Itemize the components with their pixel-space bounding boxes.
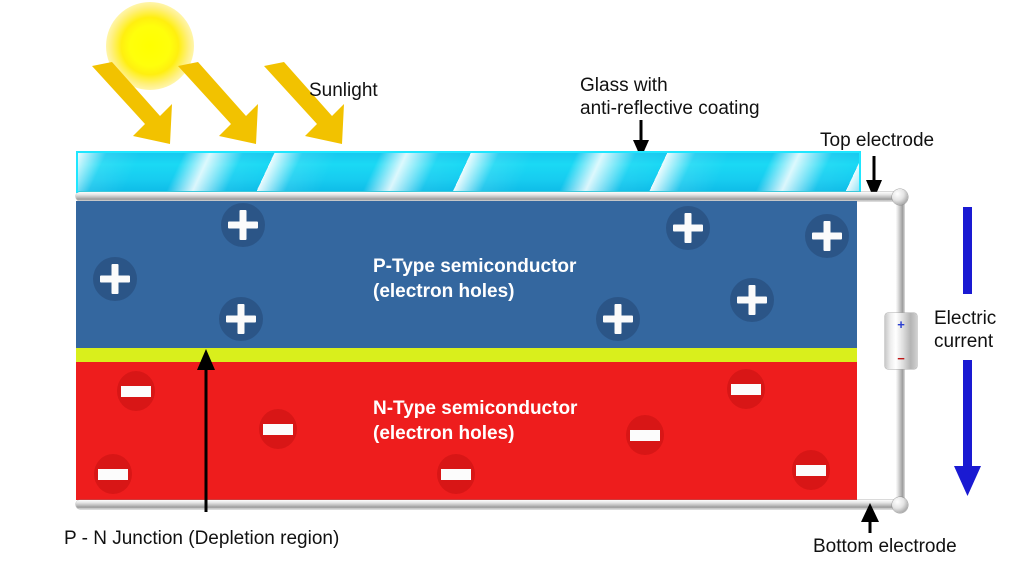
- top-electrode-terminal: [892, 189, 908, 205]
- solar-cell-diagram: Sunlight Glass with anti-reflective coat…: [0, 0, 1024, 572]
- load-positive-terminal-label: +: [885, 317, 917, 332]
- load-negative-terminal-label: −: [885, 351, 917, 366]
- electric-current-bar: [963, 207, 972, 294]
- electric-current-label: Electric current: [934, 307, 996, 353]
- electric-current-arrow-icon: [940, 360, 1000, 510]
- load-element: + −: [885, 313, 917, 369]
- bottom-electrode-label: Bottom electrode: [813, 535, 957, 558]
- bottom-electrode-pointer-arrow-icon: [0, 0, 1024, 572]
- bottom-electrode-terminal: [892, 497, 908, 513]
